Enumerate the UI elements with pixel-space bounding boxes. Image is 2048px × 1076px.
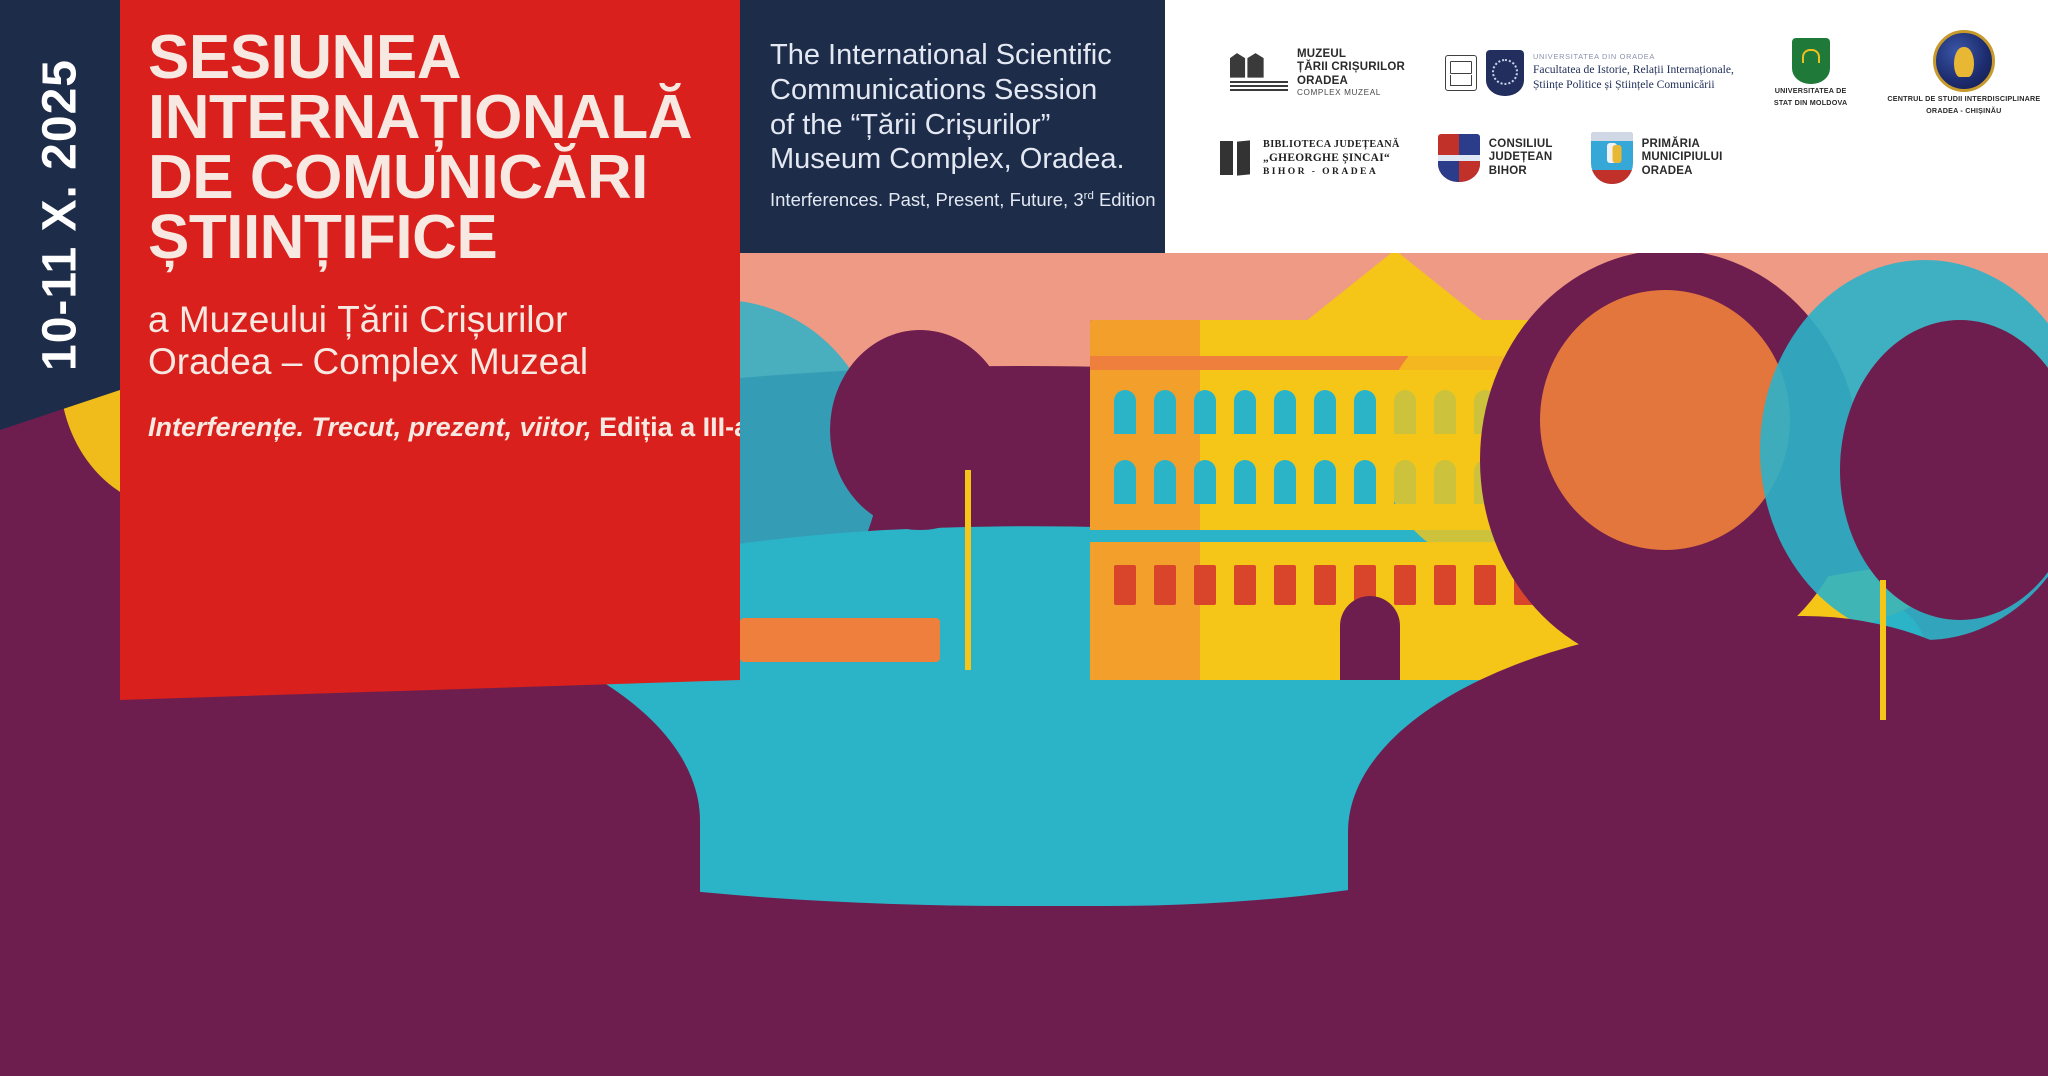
logo-line-2: ȚĂRII CRIȘURILOR [1297, 61, 1405, 74]
md-caption-line-2: STAT DIN MOLDOVA [1774, 99, 1847, 108]
logo-muzeul-tarii-crisurilor: MUZEUL ȚĂRII CRIȘURILOR ORADEA COMPLEX M… [1230, 48, 1405, 98]
window-row-lower [1114, 565, 1576, 605]
page-title: SESIUNEA INTERNAȚIONALĂ DE COMUNICĂRI ȘT… [148, 28, 716, 269]
logo-academia-romana-csi: CENTRUL DE STUDII INTERDISCIPLINARE ORAD… [1887, 30, 2040, 115]
museum-m-icon [1230, 53, 1288, 93]
trash-bin [1742, 718, 1768, 760]
building-entrance [1340, 596, 1400, 680]
or-line-3: ORADEA [1642, 165, 1723, 178]
logo-row-top: MUZEUL ȚĂRII CRIȘURILOR ORADEA COMPLEX M… [1230, 30, 2040, 115]
md-caption-line-1: UNIVERSITATEA DE [1774, 87, 1847, 96]
title-panel-romanian: SESIUNEA INTERNAȚIONALĂ DE COMUNICĂRI ȘT… [120, 0, 740, 700]
bib-line-3: BIHOR - ORADEA [1263, 166, 1400, 178]
street-lamp-1 [965, 470, 971, 670]
logo-biblioteca-judeteana: BIBLIOTECA JUDEȚEANĂ „GHEORGHE ȘINCAI“ B… [1220, 138, 1400, 179]
cj-line-3: BIHOR [1489, 165, 1553, 178]
logo-universitatea-de-stat-din-moldova: UNIVERSITATEA DE STAT DIN MOLDOVA [1774, 38, 1847, 107]
title-line-2: INTERNAȚIONALĂ [148, 88, 716, 148]
uo-tiny-label: UNIVERSITATEA DIN ORADEA [1533, 53, 1734, 62]
theme-suffix-en: Edition [1094, 189, 1156, 210]
title-panel-english: The International Scientific Communicati… [740, 0, 1165, 253]
logo-consiliul-judetean-bihor: CONSILIUL JUDEȚEAN BIHOR [1438, 134, 1553, 182]
logo-line-3: ORADEA [1297, 75, 1405, 88]
or-line-2: MUNICIPIULUI [1642, 151, 1723, 164]
english-line-2: Communications Session [770, 73, 1153, 108]
uo-crest-icon [1486, 50, 1524, 96]
logo-universitatea-din-oradea: UNIVERSITATEA DIN ORADEA Facultatea de I… [1445, 50, 1734, 96]
logo-primaria-municipiului-oradea: PRIMĂRIA MUNICIPIULUI ORADEA [1591, 132, 1723, 184]
logo-line-1: MUZEUL [1297, 48, 1405, 61]
theme-edition-ro: Ediția a III-a [592, 412, 750, 442]
title-line-3: DE COMUNICĂRI [148, 148, 716, 208]
csi-caption-line-2: ORADEA - CHIȘINĂU [1887, 107, 2040, 116]
theme-prefix-en: Interferences. Past, Present, Future, 3 [770, 189, 1084, 210]
academia-romana-seal-icon [1887, 30, 2040, 92]
english-title: The International Scientific Communicati… [770, 38, 1153, 177]
theme-line-romanian: Interferențe. Trecut, prezent, viitor, E… [148, 412, 716, 443]
cj-line-1: CONSILIUL [1489, 138, 1553, 151]
uo-faculty-line-1: Facultatea de Istorie, Relații Internați… [1533, 62, 1734, 77]
event-date: 10-11 X. 2025 [33, 59, 88, 371]
open-book-shield-icon [1445, 55, 1477, 91]
organizer-line-1: a Muzeului Țării Crișurilor [148, 299, 716, 342]
partner-logo-bar: MUZEUL ȚĂRII CRIȘURILOR ORADEA COMPLEX M… [1165, 0, 2048, 253]
logo-line-small: COMPLEX MUZEAL [1297, 88, 1405, 98]
english-line-3: of the “Țării Crișurilor” [770, 108, 1153, 143]
english-line-1: The International Scientific [770, 38, 1153, 73]
street-lamp-2 [1880, 580, 1886, 720]
organizer-subtitle: a Muzeului Țării Crișurilor Oradea – Com… [148, 299, 716, 385]
tree-mass-right-2 [1540, 290, 1790, 550]
cj-line-2: JUDEȚEAN [1489, 151, 1553, 164]
organizer-line-2: Oradea – Complex Muzeal [148, 341, 716, 384]
title-line-4: ȘTIINȚIFICE [148, 208, 716, 268]
title-line-1: SESIUNEA [148, 28, 716, 88]
csi-caption-line-1: CENTRUL DE STUDII INTERDISCIPLINARE [1887, 95, 2040, 104]
logo-row-bottom: BIBLIOTECA JUDEȚEANĂ „GHEORGHE ȘINCAI“ B… [1220, 132, 1723, 184]
library-books-icon [1220, 141, 1254, 175]
bihor-county-shield-icon [1438, 134, 1480, 182]
bib-line-1: BIBLIOTECA JUDEȚEANĂ [1263, 138, 1400, 151]
tree-mass-center [830, 330, 1010, 530]
conference-poster: 10-11 X. 2025 SESIUNEA INTERNAȚIONALĂ DE… [0, 0, 2048, 1076]
oradea-city-shield-icon [1591, 132, 1633, 184]
or-line-1: PRIMĂRIA [1642, 138, 1723, 151]
english-line-4: Museum Complex, Oradea. [770, 142, 1153, 177]
moldova-crest-icon [1774, 38, 1847, 84]
theme-line-english: Interferences. Past, Present, Future, 3r… [770, 189, 1153, 211]
bib-line-2: „GHEORGHE ȘINCAI“ [1263, 151, 1400, 166]
park-bench-2 [740, 618, 940, 662]
date-rail: 10-11 X. 2025 [0, 0, 120, 430]
uo-faculty-line-2: Științe Politice și Științele Comunicări… [1533, 77, 1734, 92]
theme-ordinal-en: rd [1084, 190, 1094, 202]
theme-italic-ro: Interferențe. Trecut, prezent, viitor, [148, 412, 592, 442]
